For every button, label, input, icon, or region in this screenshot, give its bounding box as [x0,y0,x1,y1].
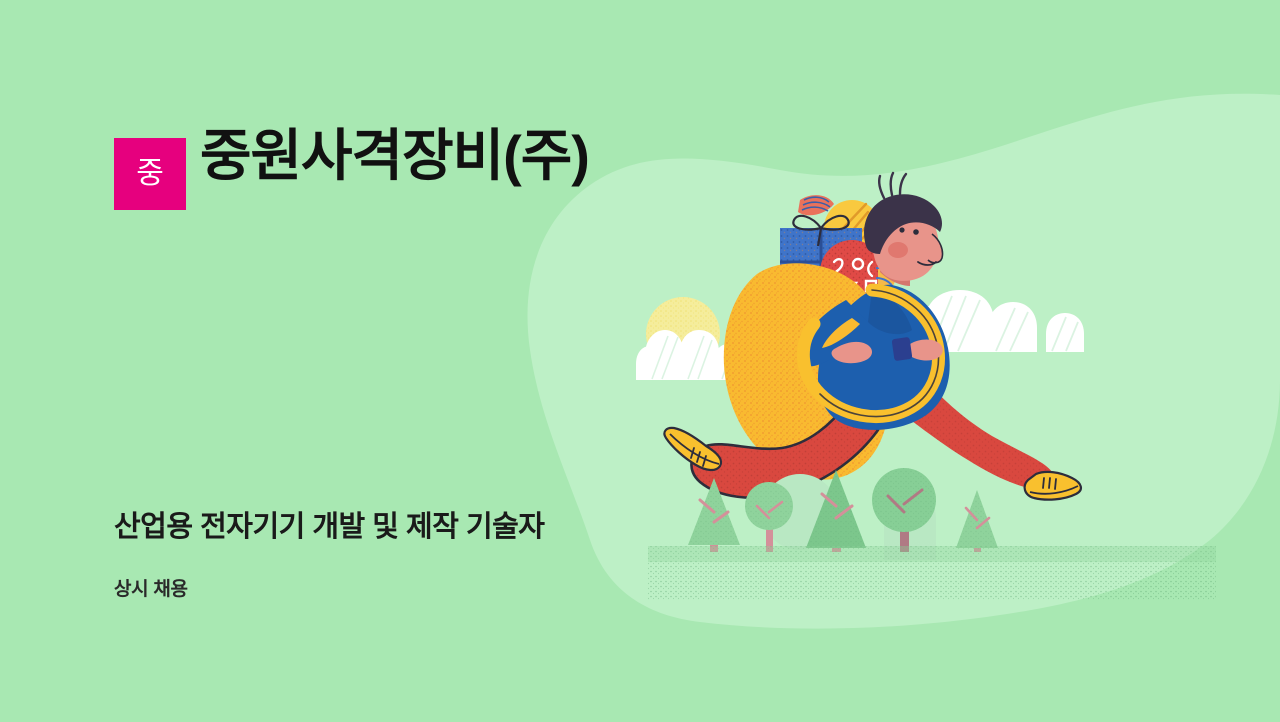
company-logo-text: 중 [136,159,164,189]
job-employment-status: 상시 채용 [114,574,188,601]
job-posting-card: 중 중원사격장비(주) 산업용 전자기기 개발 및 제작 기술자 상시 채용 [0,0,1280,722]
job-position-title: 산업용 전자기기 개발 및 제작 기술자 [114,503,545,545]
title-row: 중 중원사격장비(주) [114,126,814,210]
company-name: 중원사격장비(주) [200,126,589,186]
company-header: 중 중원사격장비(주) [114,126,814,210]
company-logo-badge: 중 [114,138,186,210]
background-blob [0,0,1280,722]
